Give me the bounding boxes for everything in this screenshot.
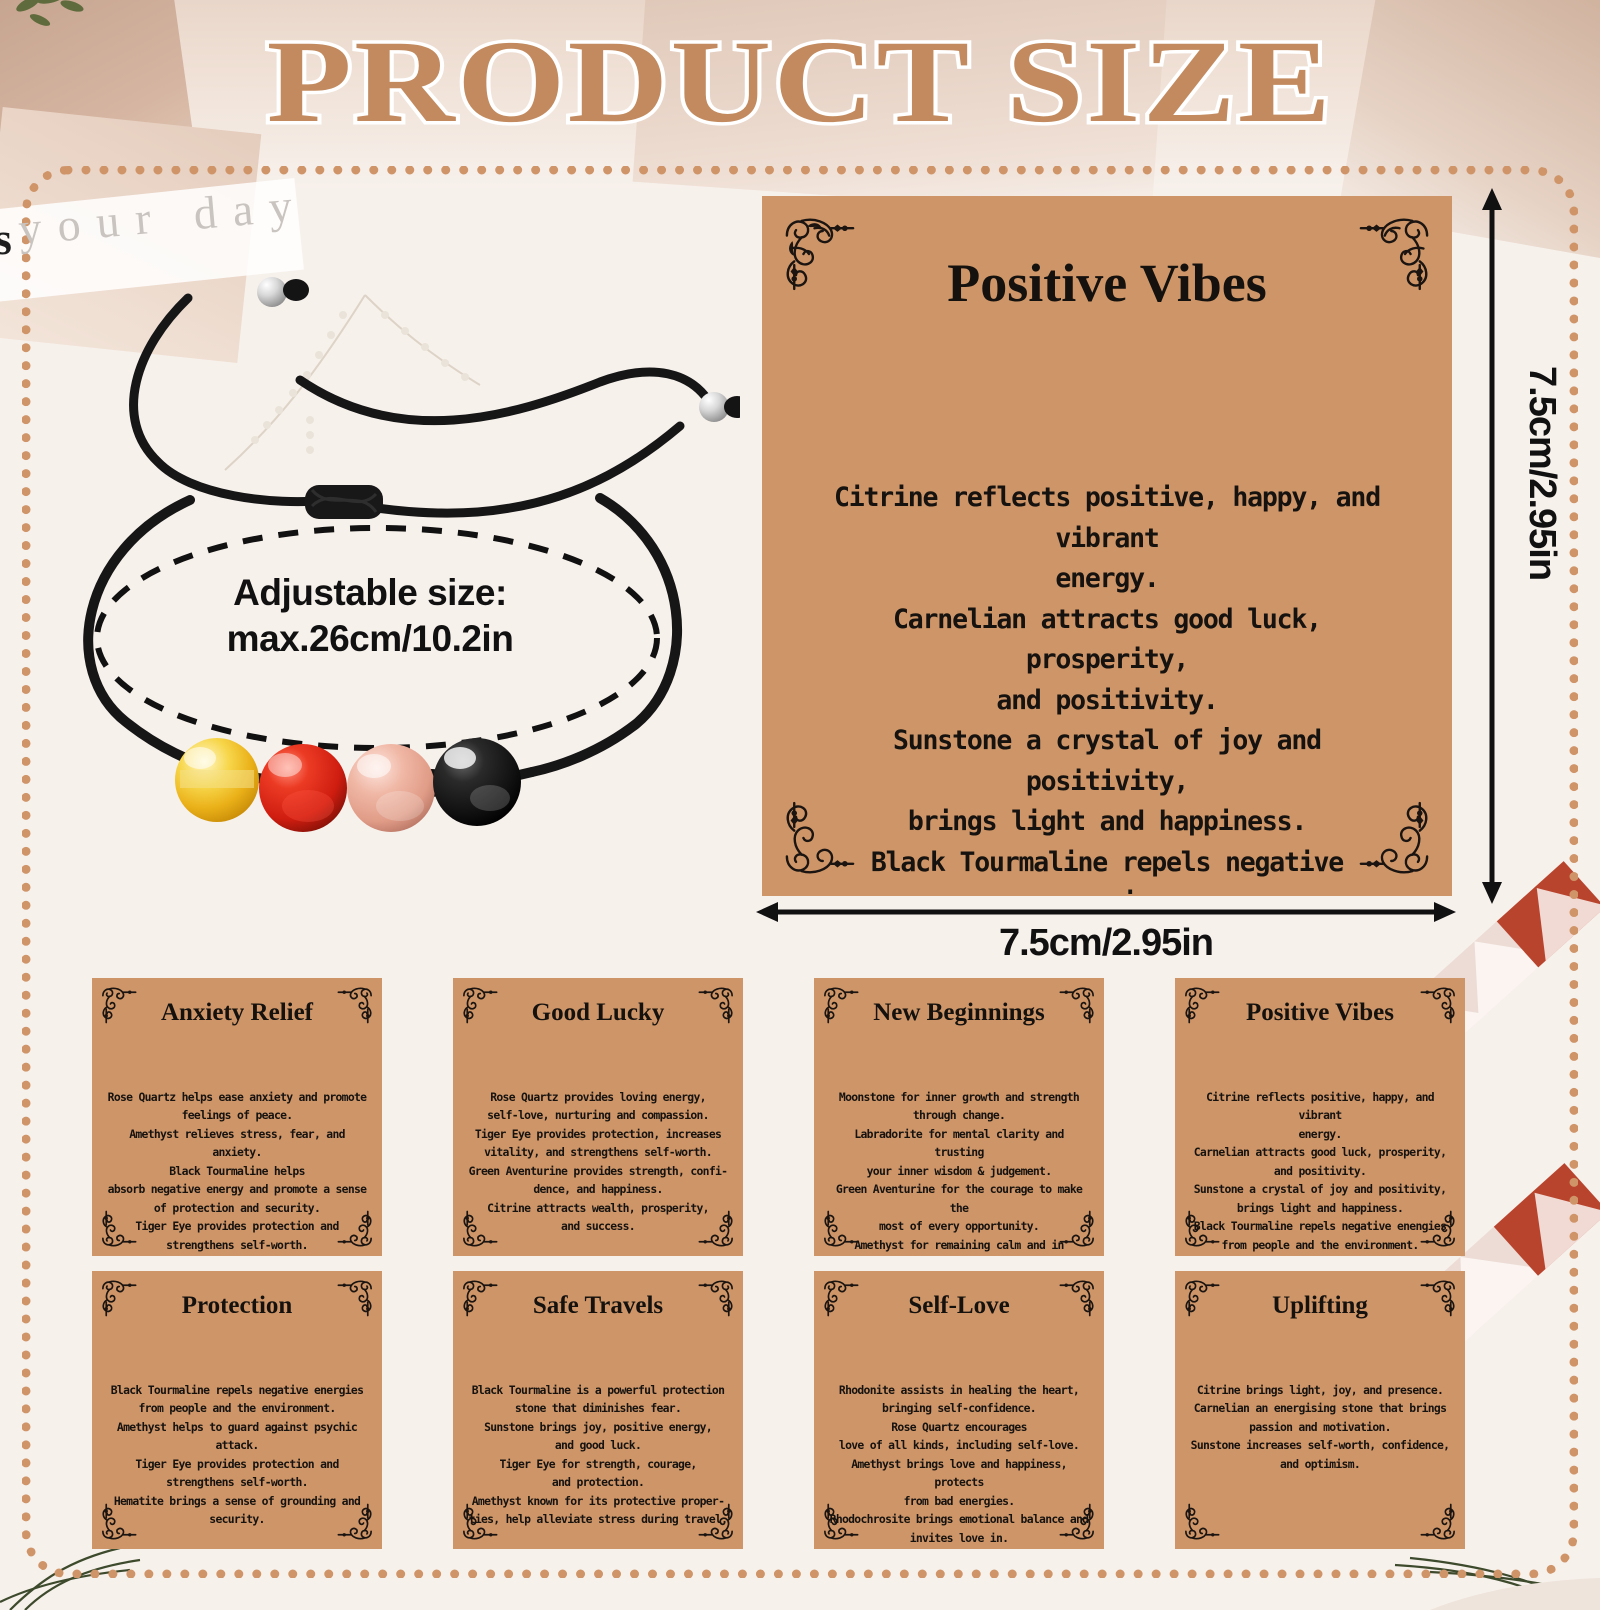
variant-card-body: Citrine brings light, joy, and presence.… [1189,1381,1451,1473]
bracelet-illustration: Adjustable size: max.26cm/10.2in [40,250,740,890]
variant-card-new-beginnings: New Beginnings Moonstone for inner growt… [814,978,1104,1256]
ornament-corner-icon [1418,1502,1460,1544]
variant-card-title: Safe Travels [453,1292,743,1320]
page-title: PRODUCT SIZE [267,18,1333,145]
variant-card-title: Positive Vibes [1175,999,1465,1027]
bead-citrine [175,738,259,822]
bead-sunstone [347,744,435,832]
variant-card-self-love: Self-Love Rhodonite assists in healing t… [814,1271,1104,1549]
variant-card-title: New Beginnings [814,999,1104,1027]
main-card-body: Citrine reflects positive, happy, and vi… [806,478,1408,896]
bead-carnelian [259,744,347,832]
variant-card-body: Moonstone for inner growth and strength … [828,1088,1090,1256]
adjuster-knot [305,485,383,519]
variant-card-title: Anxiety Relief [92,999,382,1027]
variant-card-anxiety-relief: Anxiety Relief Rose Quartz helps ease an… [92,978,382,1256]
variant-card-title: Uplifting [1175,1292,1465,1320]
clasp-bead-right [699,392,740,422]
height-dimension: 7.5cm/2.95in [1464,188,1584,904]
variant-card-body: Citrine reflects positive, happy, and vi… [1189,1088,1451,1254]
variant-card-body: Black Tourmaline is a powerful protectio… [467,1381,729,1529]
variant-card-safe-travels: Safe Travels Black Tourmaline is a power… [453,1271,743,1549]
variant-card-uplifting: Uplifting Citrine brings light, joy, and… [1175,1271,1465,1549]
ornament-corner-icon [1180,1502,1222,1544]
variant-card-title: Good Lucky [453,999,743,1027]
adjustable-size-line-2: max.26cm/10.2in [160,616,580,662]
height-dimension-label: 7.5cm/2.95in [1520,366,1563,580]
variant-card-positive-vibes: Positive Vibes Citrine reflects positive… [1175,978,1465,1256]
variant-card-title: Self-Love [814,1292,1104,1320]
variant-card-grid: Anxiety Relief Rose Quartz helps ease an… [92,978,1512,1564]
variant-card-protection: Protection Black Tourmaline repels negat… [92,1271,382,1549]
background-text-partial: s [0,212,12,265]
variant-card-body: Rhodonite assists in healing the heart, … [828,1381,1090,1547]
page-header: PRODUCT SIZE [0,18,1600,158]
adjustable-size-line-1: Adjustable size: [160,570,580,616]
variant-card-body: Rose Quartz provides loving energy, self… [467,1088,729,1236]
width-dimension-label: 7.5cm/2.95in [756,922,1456,965]
bead-black-tourmaline [433,738,521,826]
main-product-card: Positive Vibes Citrine reflects positive… [762,196,1452,896]
width-dimension: 7.5cm/2.95in [756,900,1456,970]
main-card-title: Positive Vibes [762,252,1452,314]
clasp-bead-top [257,277,309,307]
variant-card-title: Protection [92,1292,382,1320]
adjustable-size-label: Adjustable size: max.26cm/10.2in [160,570,580,663]
variant-card-body: Rose Quartz helps ease anxiety and promo… [106,1088,368,1254]
variant-card-good-lucky: Good Lucky Rose Quartz provides loving e… [453,978,743,1256]
variant-card-body: Black Tourmaline repels negative energie… [106,1381,368,1529]
